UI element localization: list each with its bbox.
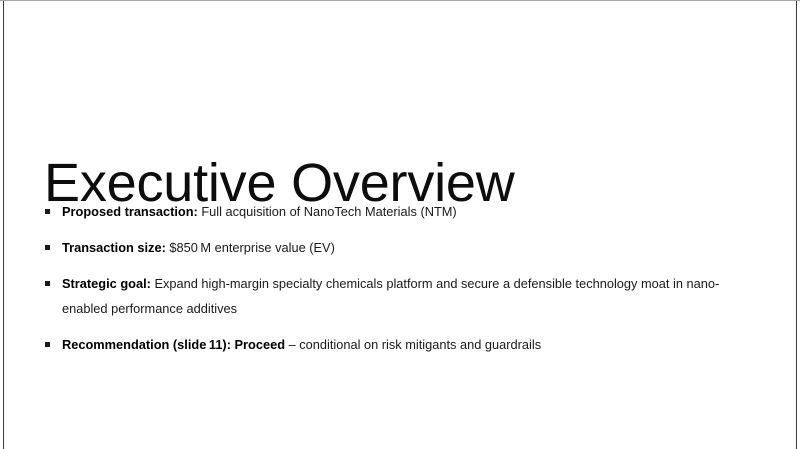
square-bullet-icon [45, 281, 50, 286]
bullet-body-text: Full acquisition of NanoTech Materials (… [198, 204, 457, 219]
bullet-list: Proposed transaction: Full acquisition o… [44, 199, 756, 357]
bullet-lead-label: Recommendation (slide 11): Proceed [62, 337, 285, 352]
list-item: Strategic goal: Expand high-margin speci… [44, 271, 756, 321]
square-bullet-icon [45, 209, 50, 214]
square-bullet-icon [45, 245, 50, 250]
list-item: Proposed transaction: Full acquisition o… [44, 199, 756, 224]
bullet-body-text: – conditional on risk mitigants and guar… [285, 337, 541, 352]
slide-edge-left [3, 1, 4, 449]
bullet-lead-label: Strategic goal: [62, 276, 151, 291]
list-item: Transaction size: $850 M enterprise valu… [44, 235, 756, 260]
bullet-body-text: Expand high-margin specialty chemicals p… [62, 276, 719, 316]
list-item: Recommendation (slide 11): Proceed – con… [44, 332, 756, 357]
slide-top-rule [0, 0, 800, 1]
bullet-body-text: $850 M enterprise value (EV) [166, 240, 335, 255]
slide-canvas: Executive Overview Proposed transaction:… [0, 0, 800, 449]
slide-edge-right [796, 1, 797, 449]
bullet-lead-label: Proposed transaction: [62, 204, 198, 219]
square-bullet-icon [45, 342, 50, 347]
bullet-lead-label: Transaction size: [62, 240, 166, 255]
